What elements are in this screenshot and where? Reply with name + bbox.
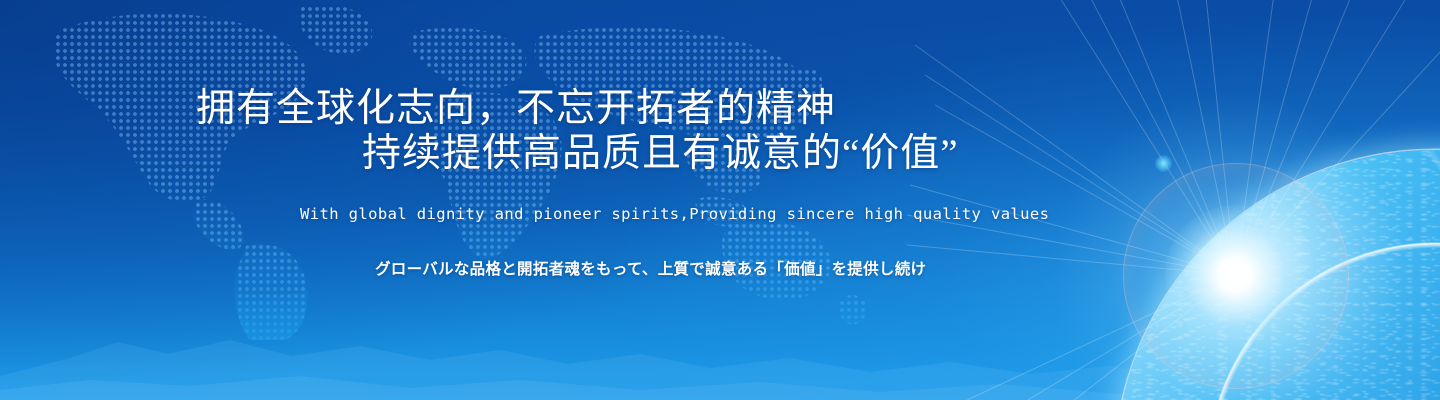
headline-line-2: 持续提供高品质且有诚意的“价值”	[362, 134, 959, 173]
lens-flare-orb-icon	[1155, 155, 1172, 172]
banner-copy: 拥有全球化志向，不忘开拓者的精神 持续提供高品质且有诚意的“价值” With g…	[0, 0, 1000, 400]
sun-core	[1165, 205, 1305, 345]
subtitle-english: With global dignity and pioneer spirits,…	[300, 205, 1049, 223]
hero-banner: 拥有全球化志向，不忘开拓者的精神 持续提供高品质且有诚意的“价值” With g…	[0, 0, 1440, 400]
headline-line-1: 拥有全球化志向，不忘开拓者的精神	[196, 89, 836, 128]
subtitle-japanese: グローバルな品格と開拓者魂をもって、上質で誠意ある「価値」を提供し続け	[375, 257, 926, 279]
